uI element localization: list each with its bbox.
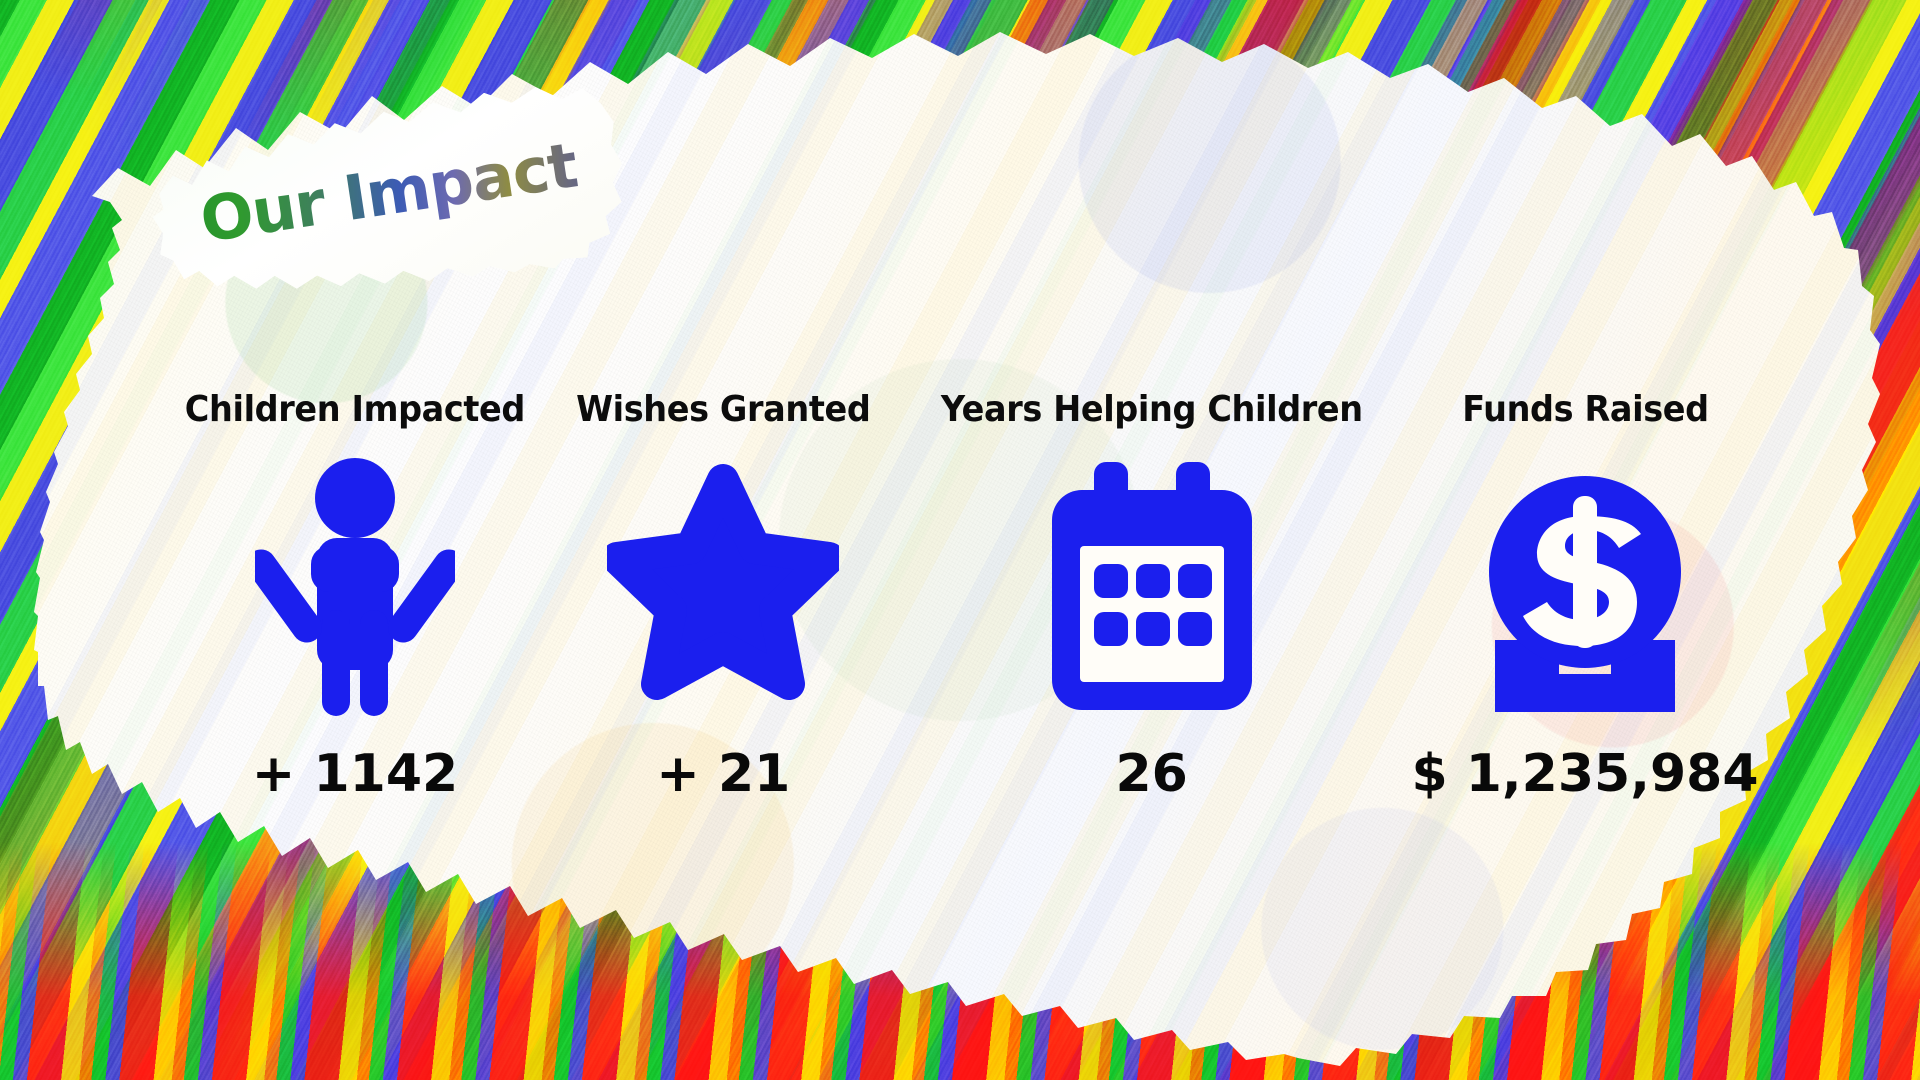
impact-infographic: Our Impact Children Impacted — [0, 0, 1920, 1080]
coin-donation-icon — [1473, 454, 1697, 722]
impact-stats-row: Children Impacted + 1142 Wi — [190, 392, 1750, 872]
stat-label: Children Impacted — [185, 392, 525, 428]
stat-value: + 1142 — [252, 748, 458, 800]
stat-label: Wishes Granted — [576, 392, 870, 428]
stat-label: Years Helping Children — [941, 392, 1363, 428]
child-raised-arms-icon — [255, 454, 455, 722]
stat-funds-raised: Funds Raised $ 1,235,984 — [1420, 392, 1750, 800]
stat-value: 26 — [1115, 748, 1187, 800]
star-icon — [607, 454, 839, 722]
stat-children-impacted: Children Impacted + 1142 — [190, 392, 520, 800]
stat-value: $ 1,235,984 — [1411, 748, 1758, 800]
stat-years-helping-children: Years Helping Children — [927, 392, 1377, 800]
stat-wishes-granted: Wishes Granted + 21 — [563, 392, 883, 800]
stat-label: Funds Raised — [1462, 392, 1708, 428]
stat-value: + 21 — [656, 748, 790, 800]
calendar-icon — [1042, 454, 1262, 722]
